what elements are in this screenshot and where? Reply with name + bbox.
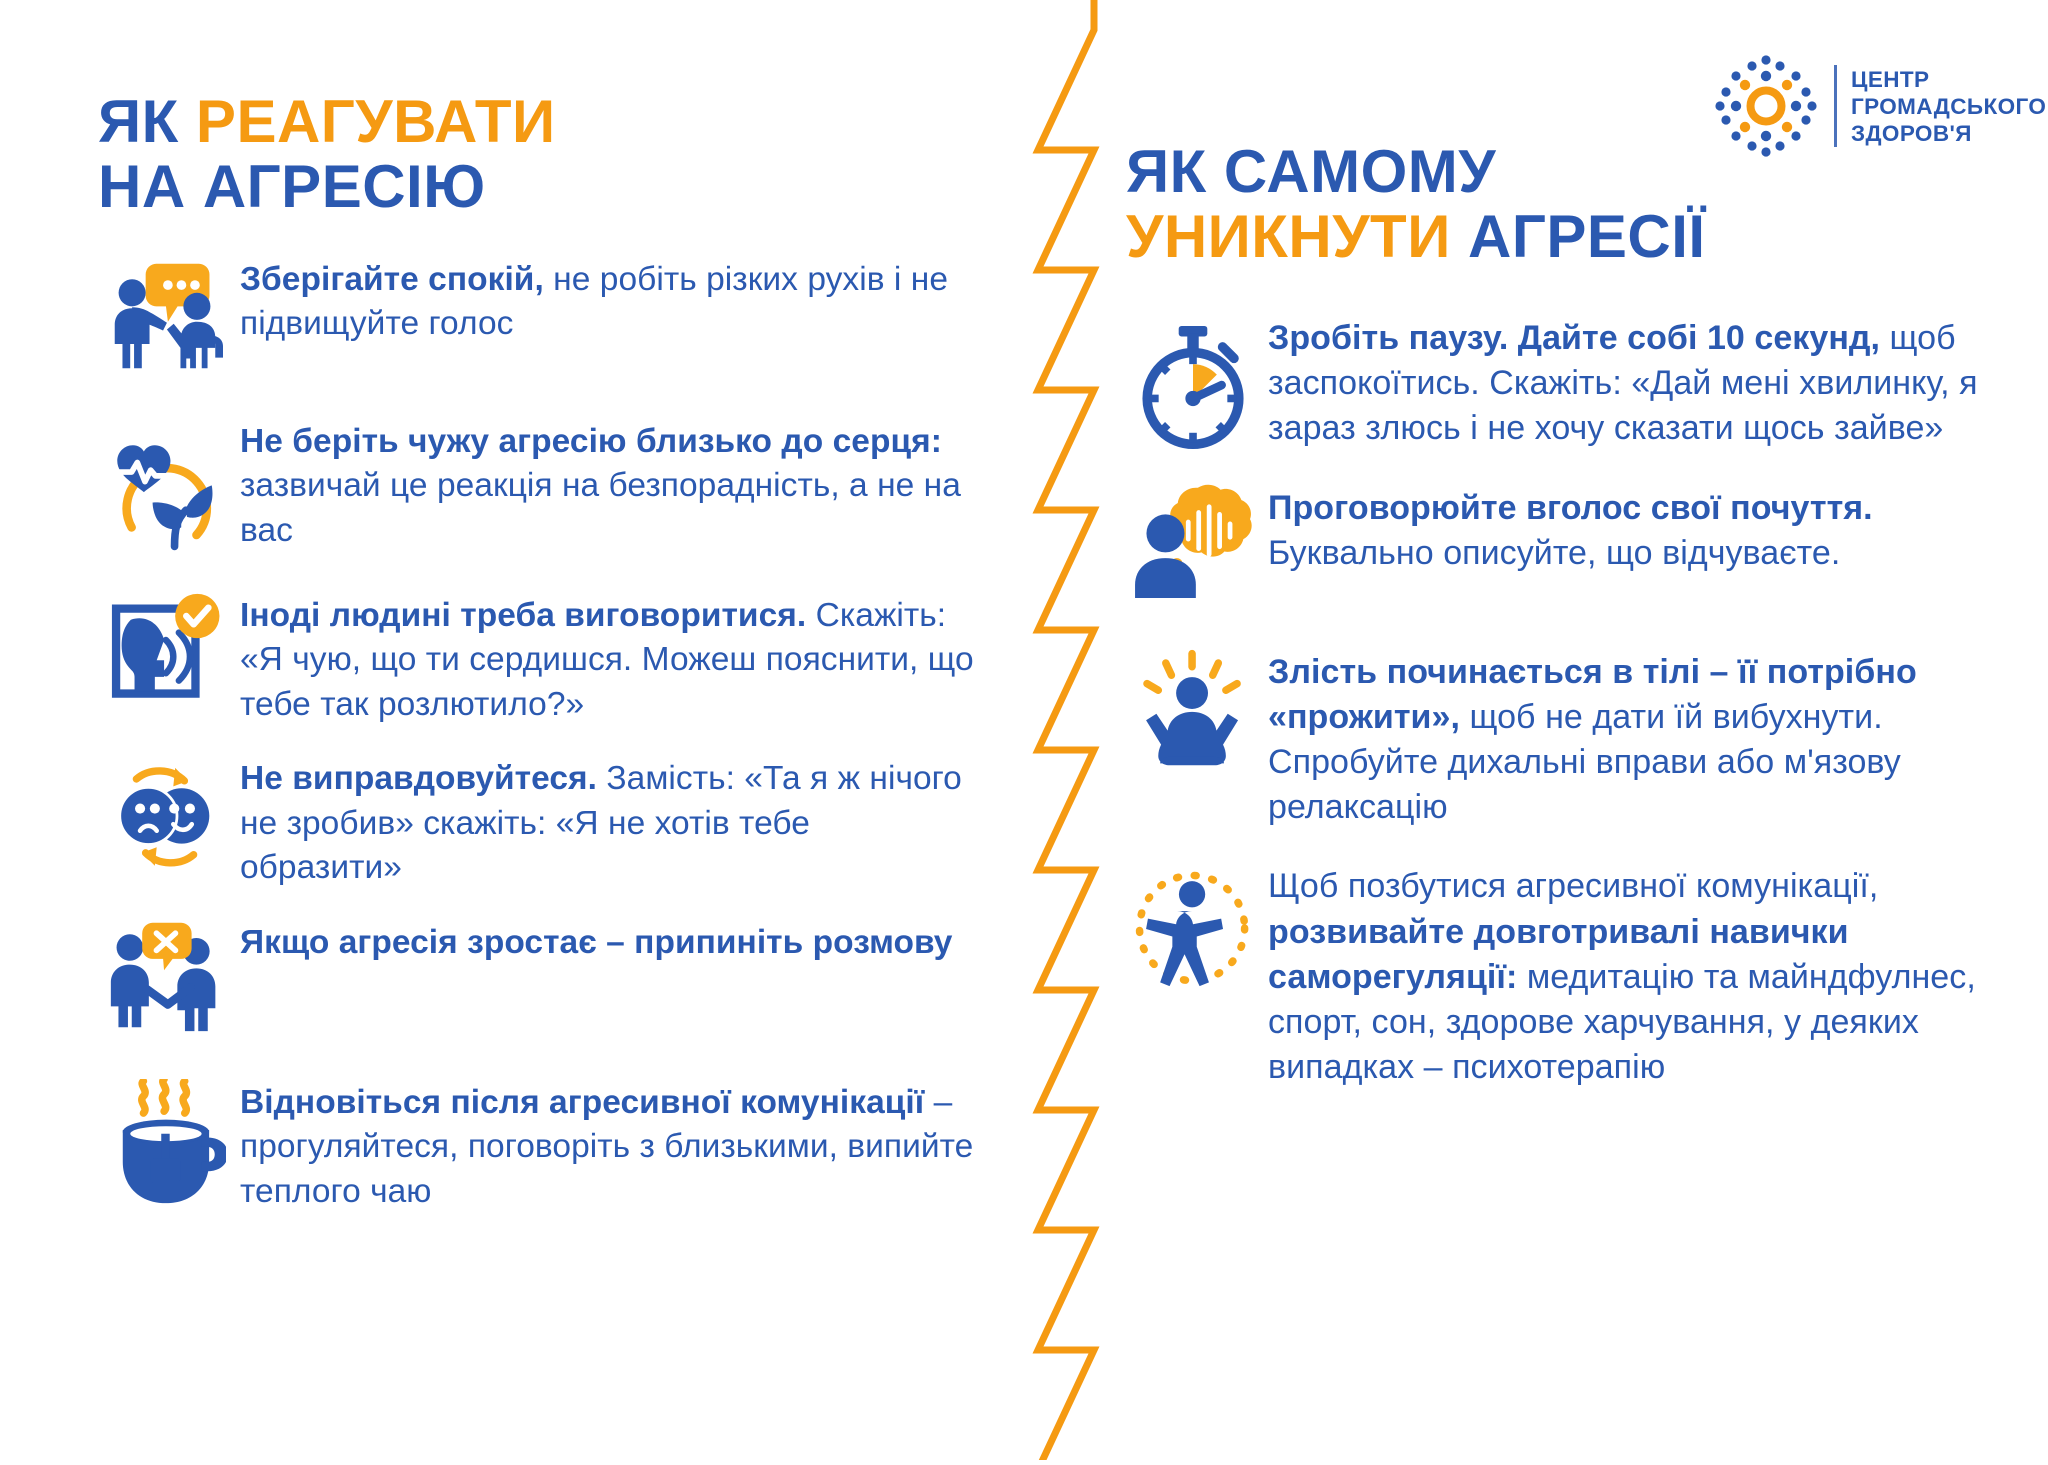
two-people-stop-conversation-icon (90, 917, 240, 1051)
list-item: Іноді людині треба виговоритися. Скажіть… (90, 590, 980, 728)
person-open-arms-dotted-circle-icon (1118, 860, 1268, 994)
heart-pulse-plant-icon (90, 416, 240, 564)
two-people-speech-bubble-icon (90, 254, 240, 390)
list-item-pre: Щоб позбутися агресивної комунікації, (1268, 867, 1878, 905)
left-title-part-1: ЯК (98, 88, 196, 155)
person-speech-waveform-icon (1118, 482, 1268, 616)
list-item: Щоб позбутися агресивної комунікації, ро… (1118, 860, 2008, 1090)
list-item: Зробіть паузу. Дайте собі 10 секунд, щоб… (1118, 312, 2008, 452)
logo-wordmark: ЦЕНТР ГРОМАДСЬКОГО ЗДОРОВ'Я (1851, 66, 2046, 147)
left-column: ЯК РЕАГУВАТИ НА АГРЕСІЮ (90, 90, 980, 1241)
list-item-text: Щоб позбутися агресивної комунікації, ро… (1268, 860, 2008, 1090)
right-title-line-1: ЯК САМОМУ (1126, 138, 1496, 205)
list-item-text: Відновіться після агресивної комунікації… (240, 1077, 980, 1215)
left-title-line-2: НА АГРЕСІЮ (98, 153, 486, 220)
stopwatch-icon (1118, 312, 1268, 452)
list-item-text: Проговорюйте вголос свої почуття. Буквал… (1268, 482, 2008, 576)
list-item-bold: Зробіть паузу. Дайте собі 10 секунд, (1268, 319, 1880, 357)
logo-line-2: ГРОМАДСЬКОГО (1851, 93, 2046, 120)
right-title-part-2: АГРЕСІЇ (1468, 203, 1705, 270)
list-item: Не беріть чужу агресію близько до серця:… (90, 416, 980, 564)
list-item-bold: Зберігайте спокій, (240, 261, 544, 298)
list-item-bold: Не виправдовуйтеся. (240, 760, 597, 797)
list-item-text: Зробіть паузу. Дайте собі 10 секунд, щоб… (1268, 312, 2008, 452)
list-item-bold: Проговорюйте вголос свої почуття. (1268, 489, 1873, 527)
right-column: ЯК САМОМУ УНИКНУТИ АГРЕСІЇ (1118, 140, 2008, 1121)
right-title-part-1: УНИКНУТИ (1126, 203, 1468, 270)
left-title-part-2: РЕАГУВАТИ (196, 88, 556, 155)
list-item-text: Не виправдовуйтеся. Замість: «Та я ж ніч… (240, 753, 980, 891)
two-faces-swap-arrows-icon (90, 753, 240, 887)
list-item-bold: Не беріть чужу агресію близько до серця: (240, 423, 942, 460)
list-item: Проговорюйте вголос свої почуття. Буквал… (1118, 482, 2008, 616)
list-item-rest: Буквально описуйте, що відчуваєте. (1268, 534, 1840, 572)
logo-line-1: ЦЕНТР (1851, 66, 2046, 93)
infographic-page: ЦЕНТР ГРОМАДСЬКОГО ЗДОРОВ'Я ЯК РЕАГУВАТИ… (0, 0, 2048, 1448)
list-item-rest: зазвичай це реакція на безпорадність, а … (240, 467, 961, 549)
tea-mug-steam-icon (90, 1077, 240, 1211)
right-page-title: ЯК САМОМУ УНИКНУТИ АГРЕСІЇ (1126, 140, 2008, 270)
person-raised-arms-rays-icon (1118, 646, 1268, 780)
list-item-text: Якщо агресія зростає – припиніть розмову (240, 917, 980, 966)
list-item-bold: Іноді людині треба виговоритися. (240, 597, 806, 634)
list-item-text: Іноді людині треба виговоритися. Скажіть… (240, 590, 980, 728)
left-page-title: ЯК РЕАГУВАТИ НА АГРЕСІЮ (98, 90, 980, 220)
list-item-text: Злість починається в тілі – її потрібно … (1268, 646, 2008, 831)
list-item: Зберігайте спокій, не робіть різких рухі… (90, 254, 980, 390)
list-item: Не виправдовуйтеся. Замість: «Та я ж ніч… (90, 753, 980, 891)
list-item: Злість починається в тілі – її потрібно … (1118, 646, 2008, 831)
list-item-bold: Відновіться після агресивної комунікації (240, 1084, 924, 1121)
logo-separator (1834, 65, 1837, 147)
list-item-bold: Якщо агресія зростає – припиніть розмову (240, 924, 952, 961)
list-item: Відновіться після агресивної комунікації… (90, 1077, 980, 1215)
list-item-text: Не беріть чужу агресію близько до серця:… (240, 416, 980, 554)
list-item: Якщо агресія зростає – припиніть розмову (90, 917, 980, 1051)
list-item-text: Зберігайте спокій, не робіть різких рухі… (240, 254, 980, 347)
speaking-head-check-icon (90, 590, 240, 724)
